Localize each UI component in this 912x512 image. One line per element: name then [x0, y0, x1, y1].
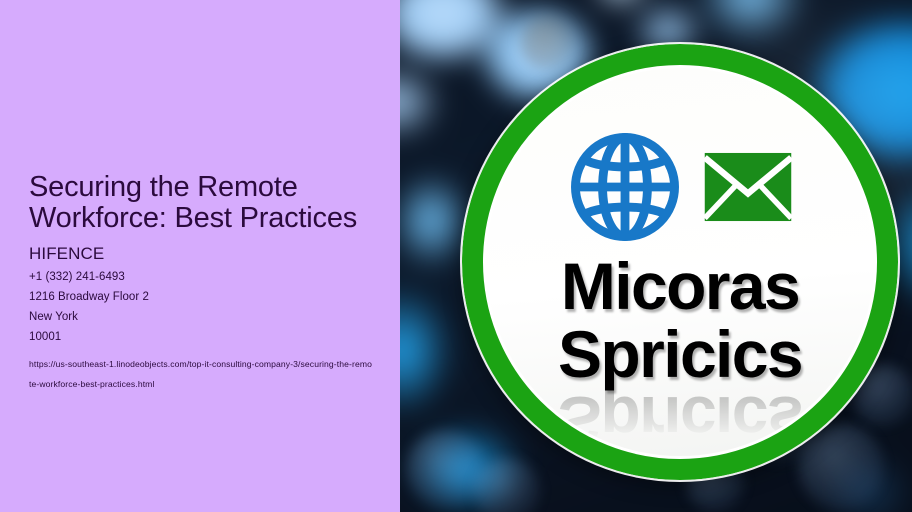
page-title: Securing the Remote Workforce: Best Prac…	[29, 172, 359, 234]
article-info-panel: Securing the Remote Workforce: Best Prac…	[0, 0, 400, 512]
bokeh-circle	[406, 430, 484, 508]
article-text-block: Securing the Remote Workforce: Best Prac…	[29, 172, 381, 394]
company-name: HIFENCE	[29, 244, 381, 264]
logo-wordmark-line-2: Spricics	[486, 320, 874, 388]
globe-icon	[566, 128, 684, 246]
bokeh-circle	[798, 424, 884, 510]
contact-phone: +1 (332) 241-6493	[29, 267, 381, 287]
promo-card: Securing the Remote Workforce: Best Prac…	[0, 0, 912, 512]
company-logo-badge: Micoras Spricics Spricics	[462, 44, 898, 480]
envelope-icon	[702, 150, 794, 224]
logo-icon-row	[486, 128, 874, 246]
contact-city: New York	[29, 307, 381, 327]
contact-postal-code: 10001	[29, 327, 381, 347]
contact-street: 1216 Broadway Floor 2	[29, 287, 381, 307]
bokeh-circle	[520, 16, 574, 70]
logo-wordmark-line-1: Micoras	[486, 252, 874, 320]
logo-face: Micoras Spricics Spricics	[486, 68, 874, 456]
logo-wordmark: Micoras Spricics	[486, 252, 874, 388]
logo-image-panel: Micoras Spricics Spricics	[400, 0, 912, 512]
source-url-link[interactable]: https://us-southeast-1.linodeobjects.com…	[29, 354, 374, 394]
